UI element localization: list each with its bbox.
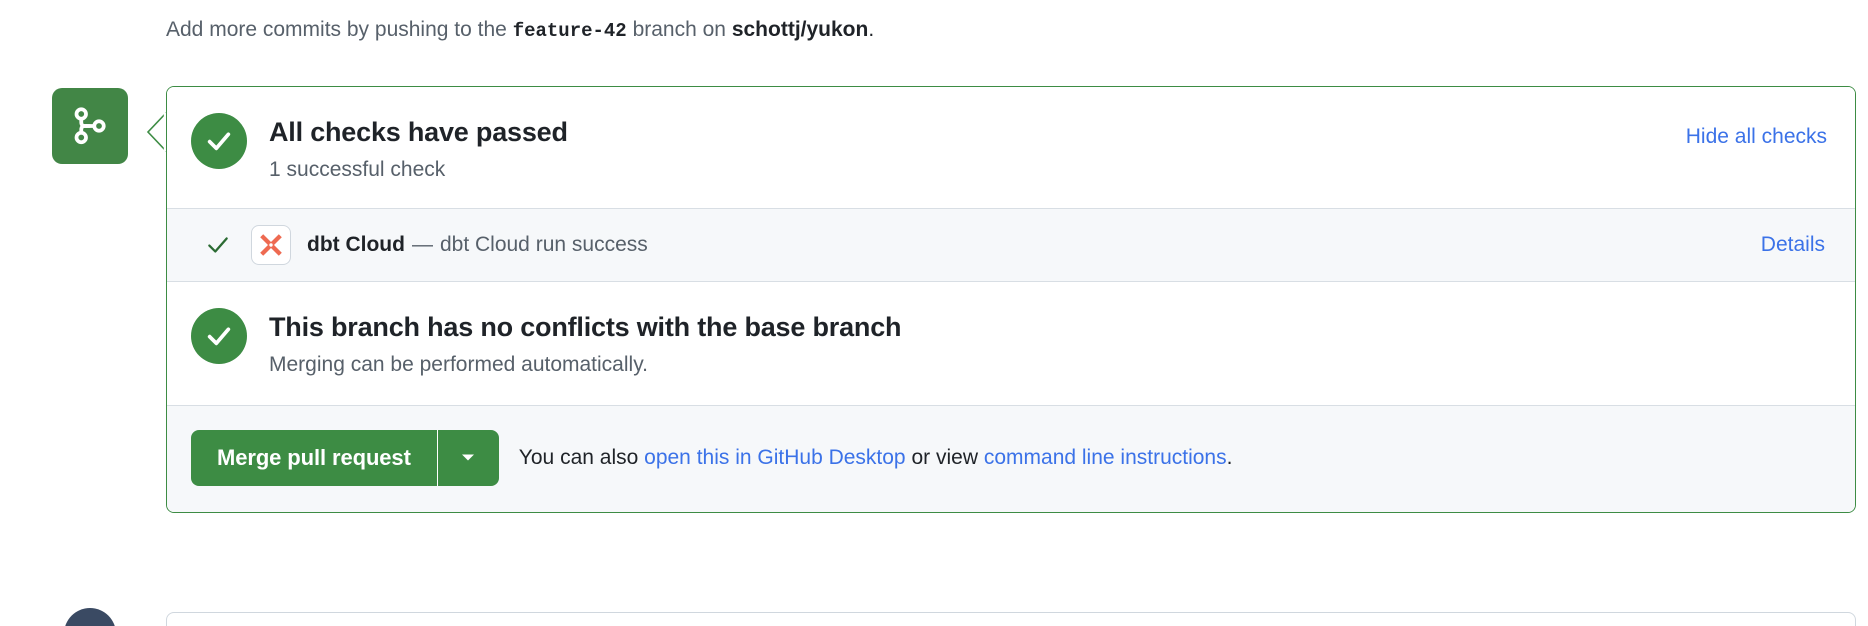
timeline-merge-badge — [52, 88, 128, 164]
conflicts-section: This branch has no conflicts with the ba… — [167, 282, 1855, 405]
branch-name: feature-42 — [513, 20, 627, 42]
check-icon — [201, 232, 235, 258]
command-line-instructions-link[interactable]: command line instructions — [984, 446, 1227, 469]
footer-note-prefix: You can also — [519, 446, 639, 469]
push-commits-hint: Add more commits by pushing to the featu… — [166, 16, 874, 45]
push-hint-suffix: . — [868, 18, 874, 41]
merge-actions-footer: Merge pull request You can also open thi… — [167, 405, 1855, 512]
footer-note-middle: or view — [911, 446, 978, 469]
dbt-cloud-logo-icon — [251, 225, 291, 265]
repository-name: schottj/yukon — [732, 18, 869, 41]
git-merge-icon — [70, 106, 110, 146]
check-name: dbt Cloud — [307, 233, 405, 257]
check-details-link[interactable]: Details — [1761, 233, 1825, 257]
conflicts-headline: This branch has no conflicts with the ba… — [269, 310, 901, 344]
merge-status-box: All checks have passed 1 successful chec… — [166, 86, 1856, 513]
check-description: dbt Cloud run success — [440, 233, 648, 257]
check-row[interactable]: dbt Cloud — dbt Cloud run success Detail… — [167, 208, 1855, 282]
push-hint-prefix: Add more commits by pushing to the — [166, 18, 507, 41]
merge-footer-note: You can also open this in GitHub Desktop… — [519, 444, 1233, 472]
push-hint-middle: branch on — [633, 18, 726, 41]
checks-headline: All checks have passed — [269, 115, 568, 149]
check-circle-icon — [191, 113, 247, 169]
next-comment-box — [166, 612, 1856, 626]
merge-box-caret — [142, 112, 168, 152]
chevron-down-icon — [458, 447, 478, 470]
open-in-github-desktop-link[interactable]: open this in GitHub Desktop — [644, 446, 905, 469]
pull-request-merge-section: Add more commits by pushing to the featu… — [0, 0, 1868, 626]
merge-pull-request-button[interactable]: Merge pull request — [191, 430, 437, 486]
checks-summary-text: All checks have passed 1 successful chec… — [269, 113, 568, 184]
checks-subline: 1 successful check — [269, 156, 568, 184]
conflicts-subline: Merging can be performed automatically. — [269, 351, 901, 379]
avatar[interactable] — [64, 608, 116, 626]
merge-options-dropdown-button[interactable] — [437, 430, 499, 486]
conflicts-text: This branch has no conflicts with the ba… — [269, 308, 901, 379]
merge-button-group: Merge pull request — [191, 430, 499, 486]
hide-all-checks-link[interactable]: Hide all checks — [1686, 123, 1827, 151]
checks-summary-section: All checks have passed 1 successful chec… — [167, 87, 1855, 208]
check-circle-icon — [191, 308, 247, 364]
check-separator: — — [412, 233, 433, 257]
footer-note-suffix: . — [1227, 446, 1233, 469]
